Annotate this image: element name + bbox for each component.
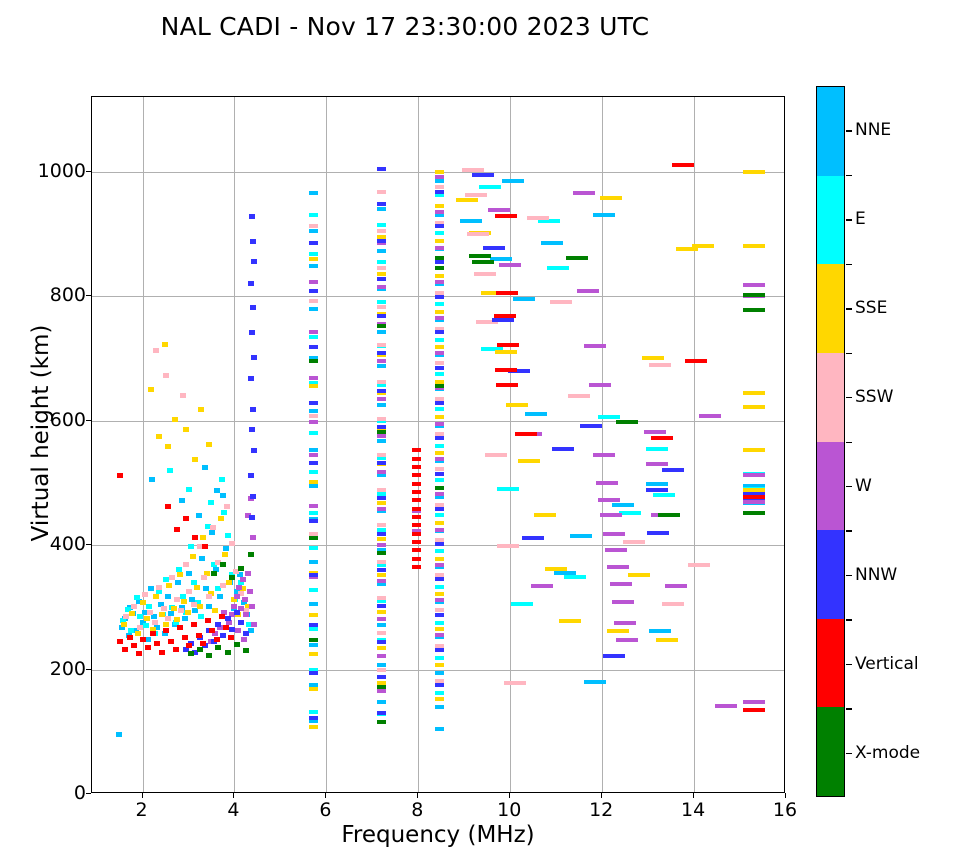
echo-mark — [168, 639, 174, 644]
echo-mark — [152, 620, 158, 625]
echo-mark — [412, 465, 421, 469]
echo-mark — [435, 210, 444, 214]
echo-mark — [377, 330, 386, 334]
echo-mark — [208, 500, 214, 505]
echo-mark — [412, 515, 421, 519]
echo-mark — [128, 628, 134, 633]
echo-mark — [497, 487, 519, 491]
echo-mark — [309, 229, 318, 233]
echo-mark — [685, 359, 707, 363]
echo-mark — [412, 532, 421, 536]
echo-mark — [559, 619, 581, 623]
echo-mark — [143, 623, 149, 628]
echo-mark — [175, 580, 181, 585]
x-tick — [509, 793, 510, 798]
colorbar-separator-tick — [846, 619, 852, 620]
echo-mark — [224, 504, 230, 509]
echo-mark — [377, 300, 386, 304]
echo-mark — [699, 414, 721, 418]
colorbar-segment-vertical — [817, 619, 844, 708]
echo-mark — [377, 700, 386, 704]
echo-mark — [223, 625, 229, 630]
echo-mark — [435, 585, 444, 589]
echo-mark — [435, 302, 444, 306]
echo-mark — [614, 621, 636, 625]
echo-mark — [412, 557, 421, 561]
echo-mark — [377, 434, 386, 438]
echo-mark — [495, 214, 517, 218]
echo-mark — [178, 608, 184, 613]
echo-mark — [435, 366, 444, 370]
colorbar-tick — [846, 308, 852, 309]
echo-mark — [186, 589, 192, 594]
gridline-vertical — [602, 97, 603, 792]
gridline-vertical — [234, 97, 235, 792]
echo-mark — [412, 448, 421, 452]
echo-mark — [743, 244, 765, 248]
echo-mark — [174, 617, 180, 622]
x-tick-label: 8 — [411, 799, 423, 821]
echo-mark — [515, 432, 537, 436]
colorbar-label-vertical: Vertical — [855, 654, 919, 674]
echo-mark — [435, 472, 444, 476]
echo-mark — [173, 647, 179, 652]
echo-mark — [149, 477, 155, 482]
echo-mark — [506, 403, 528, 407]
echo-mark — [743, 283, 765, 287]
colorbar-tick — [846, 130, 852, 131]
x-tick-label: 14 — [681, 799, 705, 821]
echo-mark — [552, 447, 574, 451]
echo-mark — [377, 523, 386, 527]
echo-mark — [435, 224, 444, 228]
echo-mark — [377, 623, 386, 627]
echo-mark — [435, 478, 444, 482]
echo-mark — [377, 202, 386, 206]
echo-mark — [309, 638, 318, 642]
echo-mark — [192, 457, 198, 462]
echo-mark — [377, 223, 386, 227]
echo-mark — [154, 641, 160, 646]
echo-mark — [502, 179, 524, 183]
echo-mark — [186, 487, 192, 492]
echo-mark — [435, 633, 444, 637]
echo-mark — [483, 246, 505, 250]
echo-mark — [377, 239, 386, 243]
echo-mark — [603, 532, 625, 536]
x-tick — [601, 793, 602, 798]
echo-mark — [518, 459, 540, 463]
echo-mark — [146, 604, 152, 609]
echo-mark — [163, 622, 169, 627]
echo-mark — [456, 198, 478, 202]
echo-mark — [584, 344, 606, 348]
echo-mark — [212, 608, 218, 613]
echo-mark — [527, 216, 549, 220]
echo-mark — [134, 595, 140, 600]
echo-mark — [185, 610, 191, 615]
echo-mark — [309, 652, 318, 656]
echo-mark — [241, 637, 247, 642]
x-tick-label: 6 — [319, 799, 331, 821]
y-tick-label: 200 — [50, 658, 86, 680]
echo-mark — [435, 170, 444, 174]
echo-mark — [377, 496, 386, 500]
echo-mark — [172, 417, 178, 422]
echo-mark — [580, 424, 602, 428]
echo-mark — [377, 675, 386, 679]
colorbar-tick — [846, 664, 852, 665]
echo-mark — [570, 534, 592, 538]
echo-mark — [662, 468, 684, 472]
echo-mark — [496, 383, 518, 387]
echo-mark — [492, 318, 514, 322]
echo-mark — [197, 647, 203, 652]
echo-mark — [692, 244, 714, 248]
echo-mark — [220, 562, 226, 567]
echo-mark — [377, 277, 386, 281]
echo-mark — [148, 387, 154, 392]
echo-mark — [174, 597, 180, 602]
echo-mark — [743, 495, 765, 499]
x-tick-label: 2 — [136, 799, 148, 821]
echo-mark — [377, 425, 386, 429]
echo-mark — [220, 633, 226, 638]
echo-mark — [525, 412, 547, 416]
echo-mark — [250, 494, 256, 499]
echo-mark — [199, 556, 205, 561]
echo-mark — [377, 501, 386, 505]
echo-mark — [412, 498, 421, 502]
echo-mark — [167, 468, 173, 473]
echo-mark — [743, 308, 765, 312]
echo-mark — [159, 612, 165, 617]
colorbar-label-ssw: SSW — [855, 387, 893, 407]
echo-mark — [377, 654, 386, 658]
echo-mark — [435, 592, 444, 596]
echo-mark — [377, 579, 386, 583]
echo-mark — [412, 457, 421, 461]
echo-mark — [412, 490, 421, 494]
echo-mark — [435, 190, 444, 194]
colorbar-segment-sse — [817, 264, 844, 353]
echo-mark — [214, 488, 220, 493]
echo-mark — [469, 254, 491, 258]
echo-mark — [179, 498, 185, 503]
colorbar-segment-nne — [817, 87, 844, 176]
echo-mark — [467, 232, 489, 236]
echo-mark — [192, 535, 198, 540]
echo-mark — [649, 629, 671, 633]
echo-mark — [234, 594, 240, 599]
x-tick — [233, 793, 234, 798]
echo-mark — [377, 364, 386, 368]
echo-mark — [435, 175, 444, 179]
echo-mark — [250, 535, 256, 540]
echo-mark — [309, 484, 318, 488]
echo-mark — [156, 585, 162, 590]
echo-mark — [612, 600, 634, 604]
echo-mark — [743, 405, 765, 409]
echo-mark — [135, 631, 141, 636]
echo-mark — [309, 643, 318, 647]
echo-mark — [377, 359, 386, 363]
echo-mark — [435, 384, 444, 388]
colorbar-segment-ssw — [817, 353, 844, 442]
echo-mark — [136, 651, 142, 656]
echo-mark — [743, 391, 765, 395]
echo-mark — [249, 427, 255, 432]
echo-mark — [435, 627, 444, 631]
echo-mark — [217, 594, 223, 599]
echo-mark — [564, 575, 586, 579]
echo-mark — [511, 602, 533, 606]
y-tick-label: 0 — [74, 782, 86, 804]
echo-mark — [612, 503, 634, 507]
echo-mark — [435, 310, 444, 314]
echo-mark — [644, 430, 666, 434]
y-tick-label: 400 — [50, 533, 86, 555]
echo-mark — [377, 453, 386, 457]
echo-mark — [496, 291, 518, 295]
echo-mark — [240, 577, 246, 582]
echo-mark — [435, 457, 444, 461]
echo-mark — [144, 616, 150, 621]
colorbar-label-nnw: NNW — [855, 565, 897, 585]
echo-mark — [435, 204, 444, 208]
echo-mark — [309, 623, 318, 627]
echo-mark — [309, 710, 318, 714]
echo-mark — [377, 167, 386, 171]
echo-mark — [435, 577, 444, 581]
echo-mark — [504, 681, 526, 685]
echo-mark — [593, 453, 615, 457]
y-tick — [86, 793, 91, 794]
echo-mark — [214, 637, 220, 642]
echo-mark — [223, 546, 229, 551]
echo-mark — [377, 560, 386, 564]
echo-mark — [250, 239, 256, 244]
echo-mark — [182, 635, 188, 640]
colorbar-label-e: E — [855, 209, 866, 229]
echo-mark — [656, 638, 678, 642]
echo-mark — [377, 403, 386, 407]
page-title: NAL CADI - Nov 17 23:30:00 2023 UTC — [0, 12, 810, 41]
echo-mark — [165, 594, 171, 599]
echo-mark — [309, 687, 318, 691]
echo-mark — [188, 651, 194, 656]
echo-mark — [140, 637, 146, 642]
ionogram-figure: NAL CADI - Nov 17 23:30:00 2023 UTC 2468… — [0, 0, 958, 857]
echo-mark — [435, 179, 444, 183]
echo-mark — [646, 482, 668, 486]
echo-mark — [435, 513, 444, 517]
echo-mark — [165, 444, 171, 449]
echo-mark — [577, 289, 599, 293]
colorbar-segment-e — [817, 176, 844, 265]
echo-mark — [435, 372, 444, 376]
echo-mark — [377, 551, 386, 555]
echo-mark — [497, 544, 519, 548]
echo-mark — [377, 573, 386, 577]
echo-mark — [435, 295, 444, 299]
echo-mark — [662, 602, 684, 606]
colorbar-separator-tick — [846, 708, 852, 709]
echo-mark — [603, 654, 625, 658]
echo-mark — [541, 241, 563, 245]
echo-mark — [435, 507, 444, 511]
echo-mark — [743, 170, 765, 174]
echo-mark — [222, 552, 228, 557]
echo-mark — [412, 523, 421, 527]
echo-mark — [651, 436, 673, 440]
echo-mark — [231, 604, 237, 609]
echo-mark — [196, 633, 202, 638]
echo-mark — [145, 645, 151, 650]
colorbar-tick — [846, 753, 852, 754]
echo-mark — [494, 314, 516, 318]
echo-mark — [435, 451, 444, 455]
echo-mark — [309, 330, 318, 334]
echo-mark — [435, 492, 444, 496]
echo-mark — [309, 573, 318, 577]
echo-mark — [435, 648, 444, 652]
echo-mark — [377, 305, 386, 309]
echo-mark — [248, 376, 254, 381]
echo-mark — [488, 208, 510, 212]
echo-mark — [435, 436, 444, 440]
echo-mark — [117, 639, 123, 644]
echo-mark — [309, 191, 318, 195]
echo-mark — [377, 351, 386, 355]
y-axis-label: Virtual height (km) — [28, 283, 54, 583]
echo-mark — [309, 536, 318, 540]
echo-mark — [129, 611, 135, 616]
echo-mark — [228, 635, 234, 640]
x-tick — [325, 793, 326, 798]
azimuth-colorbar — [816, 86, 845, 797]
echo-mark — [435, 727, 444, 731]
echo-mark — [547, 266, 569, 270]
echo-mark — [197, 604, 203, 609]
echo-mark — [607, 565, 629, 569]
echo-mark — [238, 620, 244, 625]
echo-mark — [377, 610, 386, 614]
echo-mark — [377, 397, 386, 401]
echo-mark — [435, 193, 444, 197]
echo-mark — [251, 448, 257, 453]
echo-mark — [412, 482, 421, 486]
echo-mark — [377, 470, 386, 474]
colorbar-segment-w — [817, 442, 844, 531]
echo-mark — [200, 641, 206, 646]
colorbar-label-x-mode: X-mode — [855, 743, 920, 763]
echo-mark — [210, 525, 216, 530]
echo-mark — [646, 488, 668, 492]
echo-mark — [229, 627, 235, 632]
echo-mark — [642, 356, 664, 360]
echo-mark — [190, 554, 196, 559]
echo-mark — [121, 622, 127, 627]
gridline-vertical — [694, 97, 695, 792]
echo-mark — [377, 604, 386, 608]
echo-mark — [607, 629, 629, 633]
echo-mark — [377, 568, 386, 572]
echo-mark — [513, 297, 535, 301]
echo-mark — [435, 549, 444, 553]
echo-mark — [377, 439, 386, 443]
echo-mark — [377, 507, 386, 511]
echo-mark — [435, 239, 444, 243]
echo-mark — [142, 592, 148, 597]
y-tick — [86, 420, 91, 421]
echo-mark — [229, 575, 235, 580]
echo-mark — [377, 711, 386, 715]
echo-mark — [495, 368, 517, 372]
gridline-vertical — [326, 97, 327, 792]
echo-mark — [183, 427, 189, 432]
echo-mark — [568, 394, 590, 398]
y-tick-label: 800 — [50, 284, 86, 306]
echo-mark — [435, 330, 444, 334]
echo-mark — [234, 610, 240, 615]
echo-mark — [665, 584, 687, 588]
echo-mark — [435, 231, 444, 235]
echo-mark — [377, 617, 386, 621]
echo-mark — [435, 697, 444, 701]
echo-mark — [194, 585, 200, 590]
echo-mark — [435, 401, 444, 405]
echo-mark — [211, 571, 217, 576]
echo-mark — [162, 342, 168, 347]
echo-mark — [377, 720, 386, 724]
echo-mark — [186, 571, 192, 576]
x-tick-label: 10 — [497, 799, 521, 821]
echo-mark — [309, 213, 318, 217]
echo-mark — [226, 580, 232, 585]
echo-mark — [147, 610, 153, 615]
gridline-vertical — [510, 97, 511, 792]
gridline-vertical — [143, 97, 144, 792]
echo-mark — [309, 613, 318, 617]
echo-mark — [249, 604, 255, 609]
echo-mark — [148, 586, 154, 591]
echo-mark — [251, 259, 257, 264]
echo-mark — [435, 663, 444, 667]
echo-mark — [243, 612, 249, 617]
echo-mark — [309, 264, 318, 268]
echo-mark — [534, 513, 556, 517]
echo-mark — [249, 330, 255, 335]
echo-mark — [225, 533, 231, 538]
colorbar-separator-tick — [846, 264, 852, 265]
x-tick-label: 12 — [589, 799, 613, 821]
echo-mark — [225, 616, 231, 621]
echo-mark — [191, 622, 197, 627]
echo-mark — [235, 628, 241, 633]
echo-mark — [140, 600, 146, 605]
echo-mark — [412, 507, 421, 511]
x-tick — [417, 793, 418, 798]
echo-mark — [205, 618, 211, 623]
echo-mark — [251, 355, 257, 360]
echo-mark — [218, 516, 224, 521]
echo-mark — [377, 689, 386, 693]
echo-mark — [219, 477, 225, 482]
echo-mark — [201, 575, 207, 580]
echo-mark — [309, 716, 318, 720]
echo-mark — [309, 671, 318, 675]
